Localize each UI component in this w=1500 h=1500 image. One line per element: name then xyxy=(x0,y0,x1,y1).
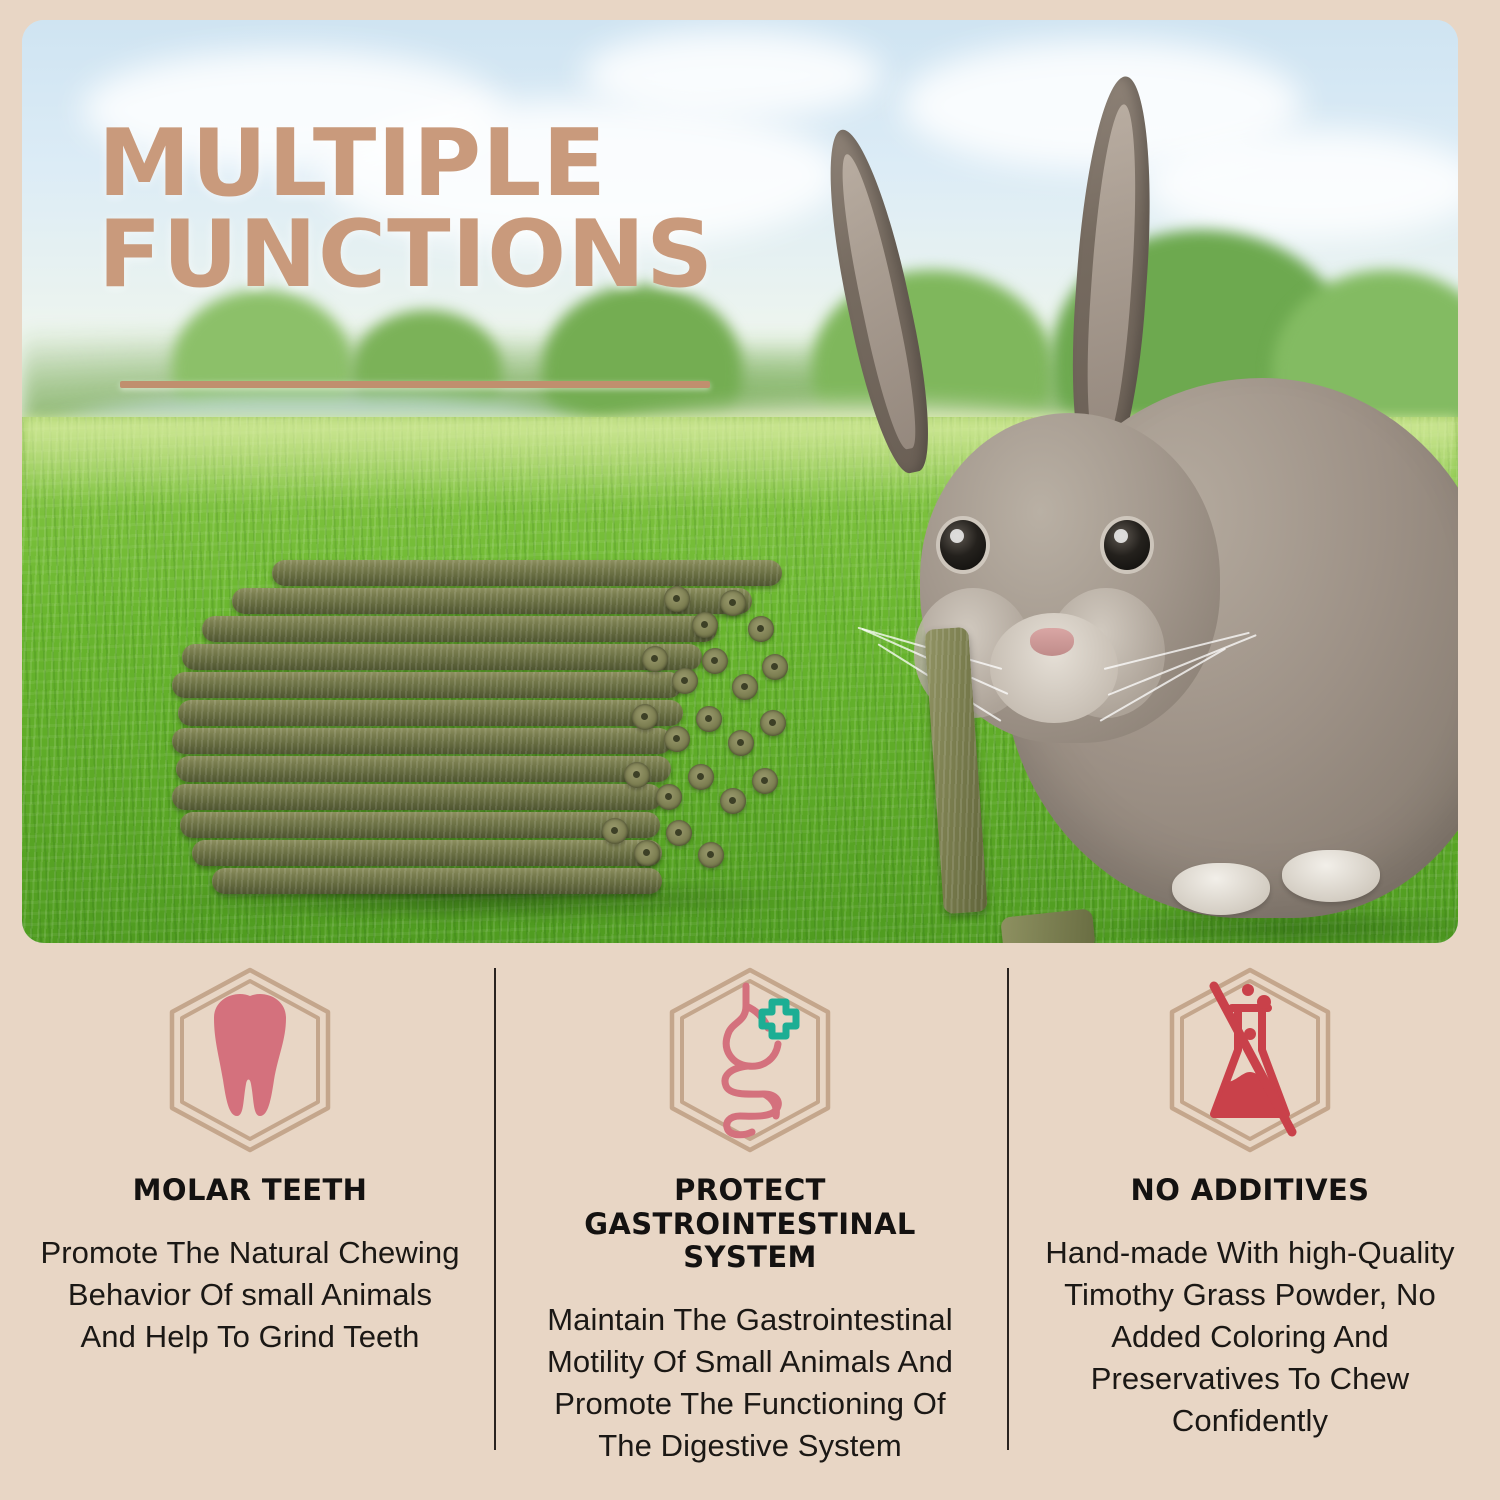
feature-desc-line: Timothy Grass Powder, No xyxy=(1026,1274,1474,1316)
feature-title: MOLAR TEETH xyxy=(26,1174,474,1208)
feature-description: Maintain The Gastrointestinal Motility O… xyxy=(526,1299,974,1468)
feature-desc-line: And Help To Grind Teeth xyxy=(26,1316,474,1358)
hay-stick-end xyxy=(632,704,658,730)
hay-stick-end xyxy=(692,612,718,638)
feature-desc-line: Confidently xyxy=(1026,1400,1474,1442)
cloud xyxy=(582,30,882,120)
stomach-intestine-icon-frame xyxy=(652,964,848,1160)
rabbit-paw-left xyxy=(1172,863,1270,915)
hay-stick-end xyxy=(666,820,692,846)
hay-stick-end xyxy=(688,764,714,790)
hay-stick-end xyxy=(760,710,786,736)
hay-stick-end xyxy=(634,840,660,866)
hay-stick-end xyxy=(702,648,728,674)
hay-stick xyxy=(202,616,717,642)
feature-no-additives: NO ADDITIVES Hand-made With high-Quality… xyxy=(1000,960,1500,1480)
hay-stick-end xyxy=(664,726,690,752)
feature-title: PROTECT GASTROINTESTINAL SYSTEM xyxy=(526,1174,974,1275)
feature-desc-line: The Digestive System xyxy=(526,1425,974,1467)
hay-stick-end xyxy=(728,730,754,756)
feature-desc-line: Behavior Of small Animals xyxy=(26,1274,474,1316)
feature-desc-line: Hand-made With high-Quality xyxy=(1026,1232,1474,1274)
title-line-2: FUNCTIONS xyxy=(98,209,778,300)
rabbit-nose xyxy=(1030,628,1074,656)
feature-desc-line: Promote The Functioning Of xyxy=(526,1383,974,1425)
feature-desc-line: Maintain The Gastrointestinal xyxy=(526,1299,974,1341)
feature-title: NO ADDITIVES xyxy=(1026,1174,1474,1208)
hay-stick-end xyxy=(752,768,778,794)
hero-product-photo: MULTIPLE FUNCTIONS xyxy=(22,20,1458,943)
hay-stick-end xyxy=(720,590,746,616)
feature-title-line: GASTROINTESTINAL SYSTEM xyxy=(584,1207,916,1275)
rabbit-eye-right xyxy=(1104,520,1150,570)
hay-stick xyxy=(272,560,782,586)
feature-desc-line: Preservatives To Chew xyxy=(1026,1358,1474,1400)
feature-desc-line: Added Coloring And xyxy=(1026,1316,1474,1358)
hay-stick-end xyxy=(720,788,746,814)
hay-stick xyxy=(192,840,662,866)
feature-desc-line: Motility Of Small Animals And xyxy=(526,1341,974,1383)
hay-stick xyxy=(172,728,672,754)
page-title: MULTIPLE FUNCTIONS xyxy=(98,118,778,300)
hay-stick xyxy=(176,756,671,782)
hay-stick-end xyxy=(672,668,698,694)
rabbit-paw-right xyxy=(1282,850,1380,902)
hay-stick xyxy=(182,644,702,670)
hay-stick-end xyxy=(664,586,690,612)
hay-stick-end xyxy=(762,654,788,680)
hay-stick xyxy=(172,784,662,810)
feature-molar-teeth: MOLAR TEETH Promote The Natural Chewing … xyxy=(0,960,500,1480)
feature-title-line: NO ADDITIVES xyxy=(1131,1173,1370,1207)
hay-stick-end xyxy=(748,616,774,642)
feature-title-line: PROTECT xyxy=(674,1173,826,1207)
hay-stick-end xyxy=(602,818,628,844)
molar-tooth-icon xyxy=(152,964,348,1160)
feature-description: Promote The Natural Chewing Behavior Of … xyxy=(26,1232,474,1358)
infographic-page: MULTIPLE FUNCTIONS xyxy=(0,0,1500,1500)
hay-stick xyxy=(172,672,682,698)
feature-desc-line: Promote The Natural Chewing xyxy=(26,1232,474,1274)
hay-stick-end xyxy=(698,842,724,868)
feature-protect-gastrointestinal-system: PROTECT GASTROINTESTINAL SYSTEM Maintain… xyxy=(500,960,1000,1480)
hay-stick-end xyxy=(624,762,650,788)
molar-tooth-icon-frame xyxy=(152,964,348,1160)
hay-stick-end xyxy=(696,706,722,732)
hay-stick-end xyxy=(656,784,682,810)
hay-stick-piece-on-grass xyxy=(1000,908,1096,943)
no-additives-flask-icon xyxy=(1152,964,1348,1160)
rabbit-photo-subject xyxy=(842,68,1458,943)
stomach-intestine-icon xyxy=(652,964,848,1160)
title-underline-rule xyxy=(120,381,710,388)
no-additives-icon-frame xyxy=(1152,964,1348,1160)
hay-stick-stack xyxy=(172,550,812,930)
feature-row: MOLAR TEETH Promote The Natural Chewing … xyxy=(0,960,1500,1480)
hay-stick-end xyxy=(732,674,758,700)
feature-title-line: MOLAR TEETH xyxy=(133,1173,368,1207)
rabbit-eye-left xyxy=(940,520,986,570)
hay-stick xyxy=(180,812,660,838)
feature-description: Hand-made With high-Quality Timothy Gras… xyxy=(1026,1232,1474,1443)
hay-stick xyxy=(212,868,662,894)
hay-stick xyxy=(178,700,683,726)
hay-stick-end xyxy=(642,646,668,672)
